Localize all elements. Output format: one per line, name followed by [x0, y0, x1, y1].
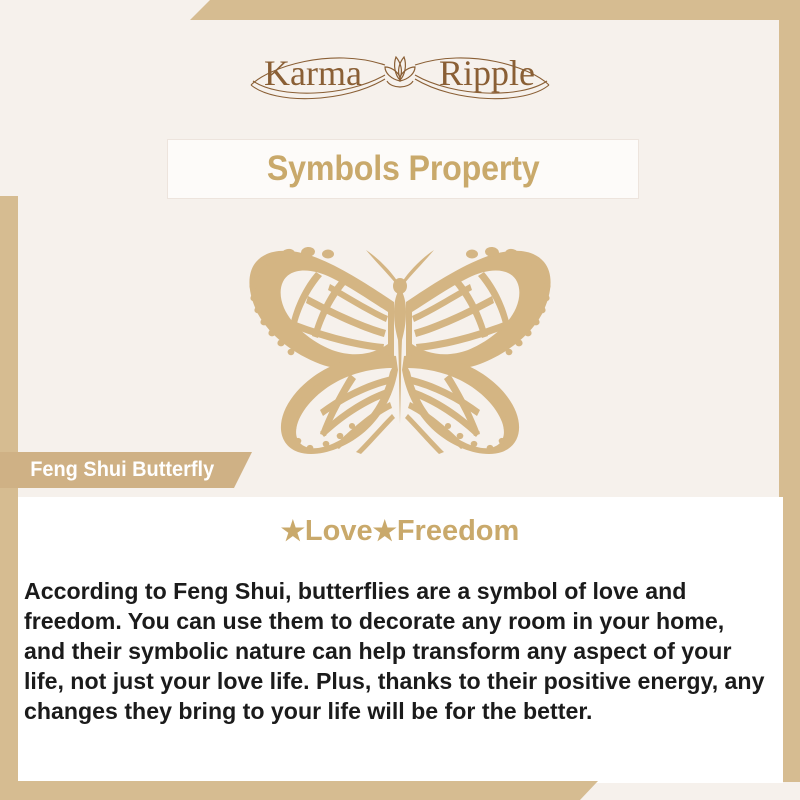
brand-logo: Karma Ripple	[0, 36, 800, 108]
body-paragraph: According to Feng Shui, butterflies are …	[24, 576, 769, 726]
title-banner: Symbols Property	[168, 140, 638, 198]
hero-image	[0, 226, 800, 456]
headline-word-love: Love	[305, 515, 373, 547]
star-icon-left: ★	[281, 516, 305, 546]
frame-top-accent	[0, 0, 800, 20]
butterfly-icon	[220, 228, 580, 454]
ribbon-label: Feng Shui Butterfly	[5, 458, 214, 482]
karma-ripple-logo-svg: Karma Ripple	[235, 37, 565, 107]
poster-root: Karma Ripple Symbols Property	[0, 0, 800, 800]
page-title: Symbols Property	[267, 149, 540, 189]
logo-word-right: Ripple	[439, 53, 535, 93]
headline-word-freedom: Freedom	[397, 515, 519, 547]
content-headline: ★Love★Freedom	[0, 515, 800, 548]
frame-bottom-accent	[0, 781, 800, 800]
logo-word-left: Karma	[264, 53, 362, 93]
star-icon-mid: ★	[373, 516, 397, 546]
feng-shui-ribbon: Feng Shui Butterfly	[0, 452, 252, 488]
